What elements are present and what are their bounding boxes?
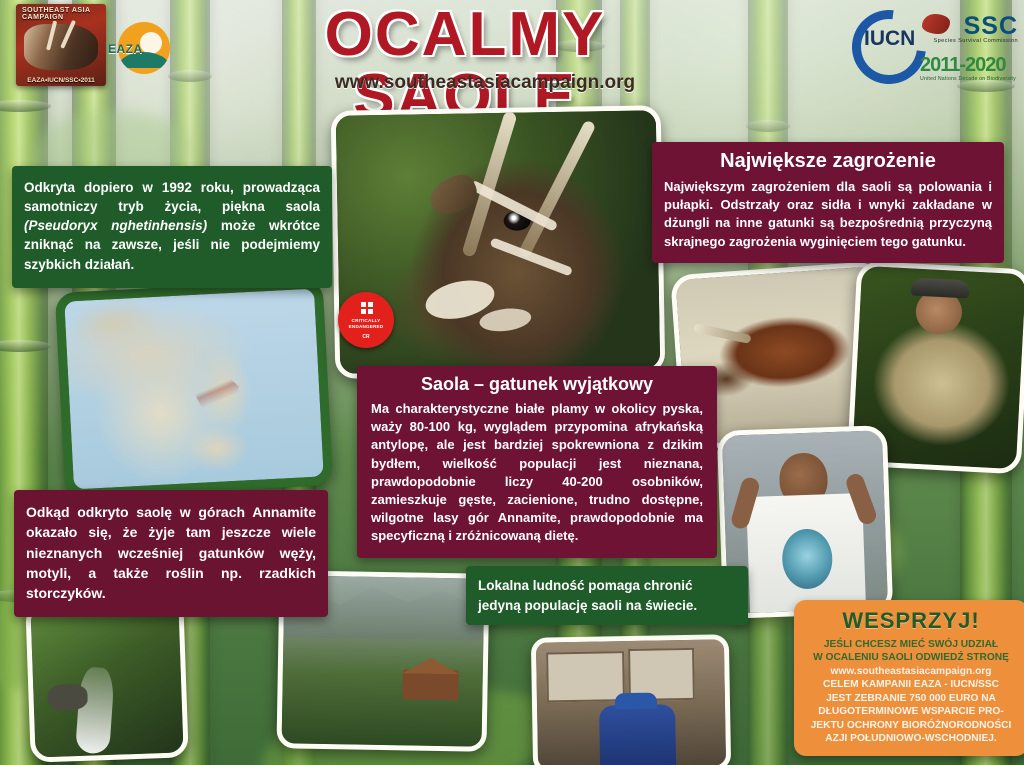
panel-threat-body: Największym zagrożeniem dla saoli są pol… [664,178,992,251]
panel-threat: Największe zagrożenie Największym zagroż… [652,142,1004,263]
panel-intro-body: Odkryta dopiero w 1992 roku, prowadząca … [24,178,320,274]
panel-annamite: Odkąd odkryto saolę w górach Annamite ok… [14,490,328,617]
support-line: DŁUGOTERMINOWE WSPARCIE PRO- [802,705,1020,718]
campaign-logo-line2: CAMPAIGN [22,14,64,21]
iucn-logo-text: IUCN [864,27,915,51]
ssc-logo: SSC Species Survival Commission [922,10,1020,52]
southeast-asia-campaign-logo: SOUTHEAST ASIA CAMPAIGN EAZA•IUCN/SSC•20… [16,4,106,86]
iucn-logo: IUCN [852,8,930,70]
photo-map[interactable] [55,279,333,499]
support-line: CELEM KAMPANII EAZA - IUCN/SSC [802,678,1020,691]
panel-species-title: Saola – gatunek wyjątkowy [371,374,703,395]
campaign-logo-line1: SOUTHEAST ASIA [22,7,91,14]
poster-canvas: SOUTHEAST ASIA CAMPAIGN EAZA•IUCN/SSC•20… [0,0,1024,765]
panel-species: Saola – gatunek wyjątkowy Ma charakterys… [357,366,717,558]
panel-locals-body: Lokalna ludność pomaga chronić jedyną po… [478,576,736,615]
support-line: JEŚLI CHCESZ MIEĆ SWÓJ UDZIAŁ [802,638,1020,651]
eaza-logo-text: EAZA [108,42,143,56]
photo-waterfall[interactable] [25,597,188,762]
ranger-cap [615,693,657,710]
panel-annamite-body: Odkąd odkryto saolę w górach Annamite ok… [26,502,316,603]
species-board [546,651,625,702]
eaza-logo: EAZA [108,16,170,78]
ranger-cap [911,277,970,298]
status-badge: CRITICALLY ENDANGERED CR [338,292,394,348]
support-line-website[interactable]: www.southeastasiacampaign.org [802,665,1020,678]
photo-ranger-boards[interactable] [531,634,731,765]
ssc-logo-text: SSC [964,12,1018,41]
support-line: JEKTU OCHRONY BIORÓŻNORODNOŚCI [802,719,1020,732]
waterfall-rock [47,684,88,711]
panel-support-lines: JEŚLI CHCESZ MIEĆ SWÓJ UDZIAŁ W OCALENIU… [802,638,1020,746]
campaign-logo-footer: EAZA•IUCN/SSC•2011 [18,77,104,84]
ssc-animal-icon [922,14,950,34]
status-badge-code: CR [338,334,394,340]
panel-species-body: Ma charakterystyczne białe plamy w okoli… [371,400,703,546]
panel-intro: Odkryta dopiero w 1992 roku, prowadząca … [12,166,332,288]
support-line: AZJI POŁUDNIOWO-WSCHODNIEJ. [802,732,1020,745]
panel-support-title: WESPRZYJ! [802,608,1020,634]
panel-threat-title: Największe zagrożenie [664,150,992,173]
header-website[interactable]: www.southeastasiacampaign.org [205,72,765,94]
decade-logo-text: 2011-2020 [920,54,1006,77]
support-line: W OCALENIU SAOLI ODWIEDŹ STRONĘ [802,651,1020,664]
support-line: JEST ZEBRANIE 750 000 EURO NA [802,692,1020,705]
ranger-body [599,704,676,765]
un-decade-biodiversity-logo: 2011-2020 United Nations Decade on Biodi… [920,54,1020,88]
panel-locals: Lokalna ludność pomaga chronić jedyną po… [466,566,748,625]
decade-logo-subtitle: United Nations Decade on Biodiversity [920,76,1016,82]
eaza-sun-icon [140,32,162,54]
panel-support: WESPRZYJ! JEŚLI CHCESZ MIEĆ SWÓJ UDZIAŁ … [794,600,1024,756]
ssc-logo-subtitle: Species Survival Commission [934,38,1018,44]
status-badge-label: CRITICALLY ENDANGERED [338,318,394,329]
